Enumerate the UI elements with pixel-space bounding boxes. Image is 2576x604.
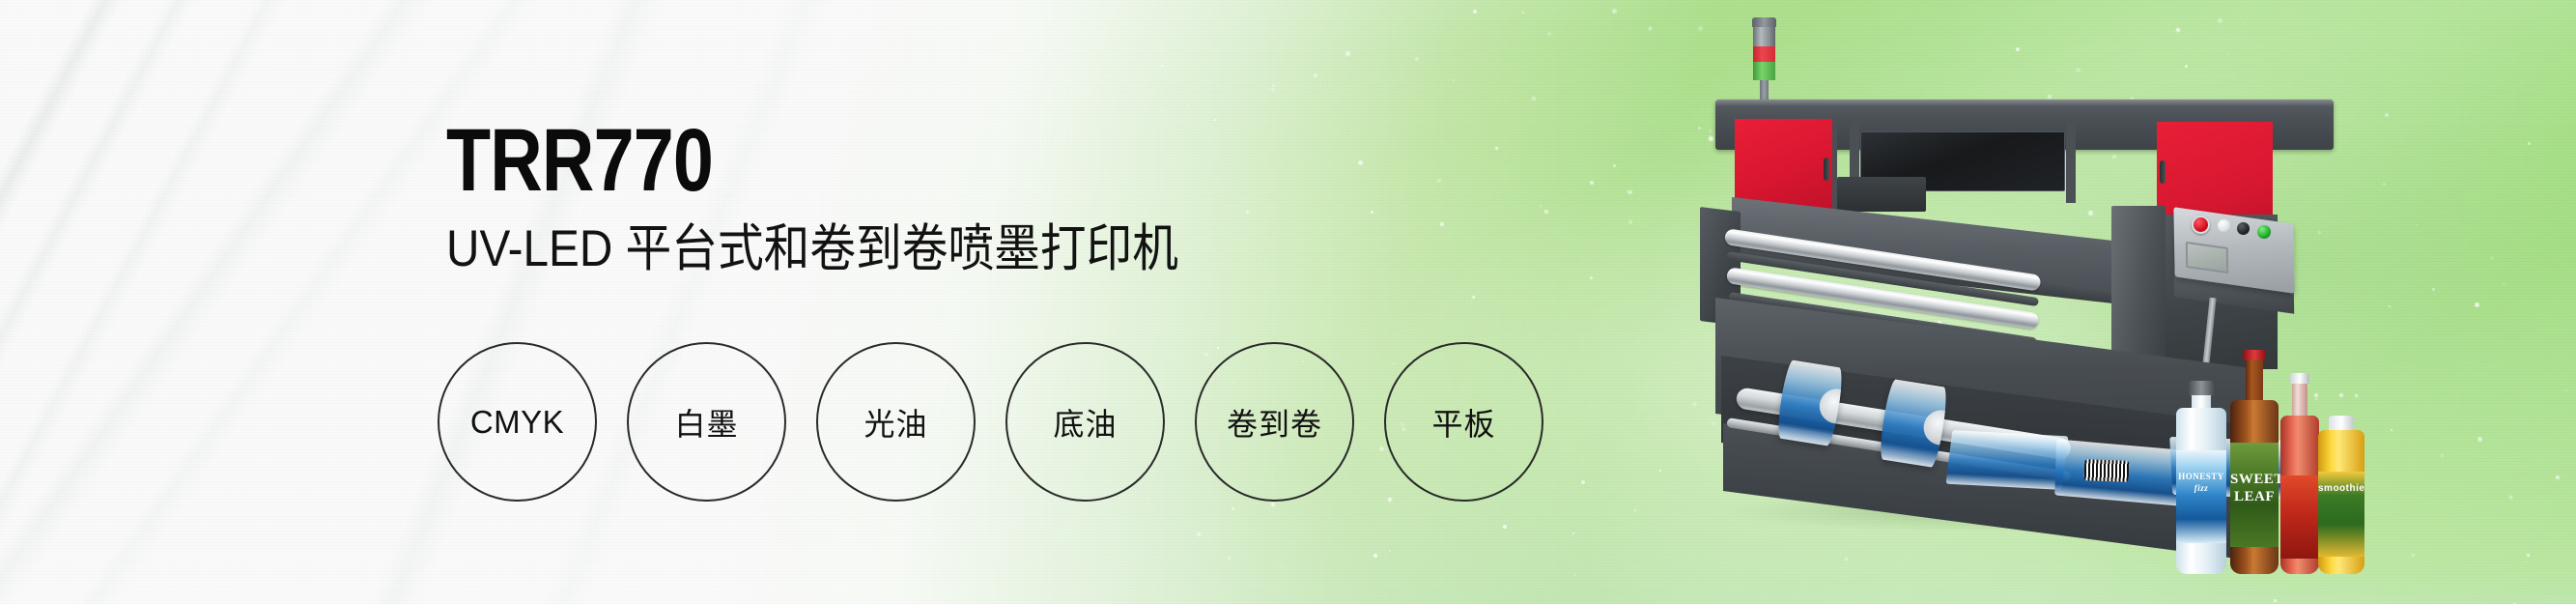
feature-badge-label: CMYK [470,404,564,441]
feature-badge-label: 光油 [863,400,927,445]
feature-badge-1[interactable]: CMYK [438,342,597,502]
page-title: TRR770 [446,116,713,205]
feature-badge-6[interactable]: 平板 [1384,342,1543,502]
page-subtitle: UV-LED 平台式和卷到卷喷墨打印机 [446,220,1178,277]
feature-badge-label: 白墨 [674,400,738,445]
banner-content: TRR770 UV-LED 平台式和卷到卷喷墨打印机 CMYK白墨光油底油卷到卷… [0,0,2576,604]
product-hero-banner: HONESTY fizz SWEET LEAF smoot [0,0,2576,604]
feature-badge-list: CMYK白墨光油底油卷到卷平板 [438,342,1543,502]
feature-badge-label: 平板 [1431,400,1495,445]
feature-badge-4[interactable]: 底油 [1005,342,1165,502]
feature-badge-label: 卷到卷 [1227,400,1322,445]
feature-badge-2[interactable]: 白墨 [627,342,786,502]
feature-badge-label: 底油 [1053,400,1117,445]
feature-badge-3[interactable]: 光油 [816,342,976,502]
feature-badge-5[interactable]: 卷到卷 [1195,342,1354,502]
